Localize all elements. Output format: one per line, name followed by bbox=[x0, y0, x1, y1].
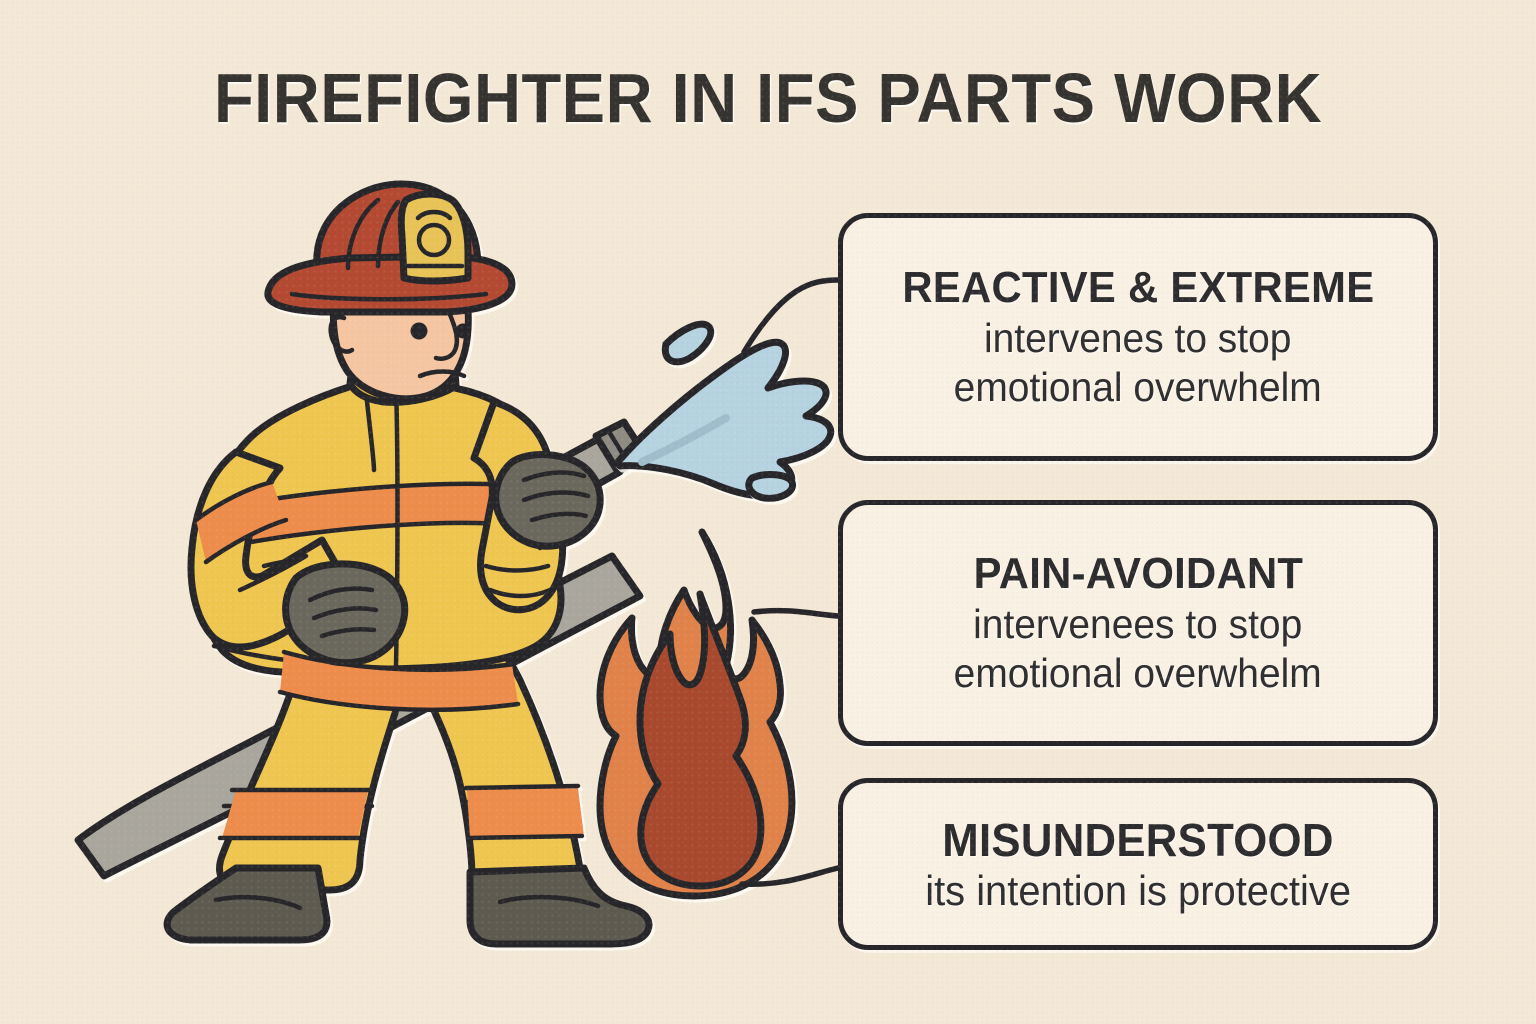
card-body: its intention is protective bbox=[925, 866, 1351, 915]
card-body: intervenees to stop emotional overwhelm bbox=[954, 600, 1322, 698]
firefighter-helmet bbox=[268, 184, 512, 312]
card-body: intervenes to stop emotional overwhelm bbox=[954, 314, 1322, 412]
connector-line-2 bbox=[754, 611, 838, 616]
card-misunderstood[interactable]: MISUNDERSTOOD its intention is protectiv… bbox=[838, 778, 1438, 950]
card-list: REACTIVE & EXTREME intervenes to stop em… bbox=[838, 0, 1442, 1024]
card-reactive-extreme[interactable]: REACTIVE & EXTREME intervenes to stop em… bbox=[838, 213, 1438, 461]
firefighter-glove-left bbox=[286, 564, 405, 663]
water-spray bbox=[617, 342, 831, 496]
firefighter-boot-left bbox=[167, 868, 327, 940]
card-pain-avoidant[interactable]: PAIN-AVOIDANT intervenees to stop emotio… bbox=[838, 500, 1438, 746]
card-title: REACTIVE & EXTREME bbox=[902, 262, 1374, 314]
card-title: PAIN-AVOIDANT bbox=[973, 548, 1303, 600]
firefighter-glove-right bbox=[496, 455, 601, 547]
infographic-poster: FIREFIGHTER IN IFS PARTS WORK .ink { str… bbox=[0, 0, 1536, 1024]
connector-line-1 bbox=[744, 280, 838, 352]
firefighter-boot-right bbox=[470, 868, 649, 944]
card-title: MISUNDERSTOOD bbox=[942, 814, 1333, 866]
